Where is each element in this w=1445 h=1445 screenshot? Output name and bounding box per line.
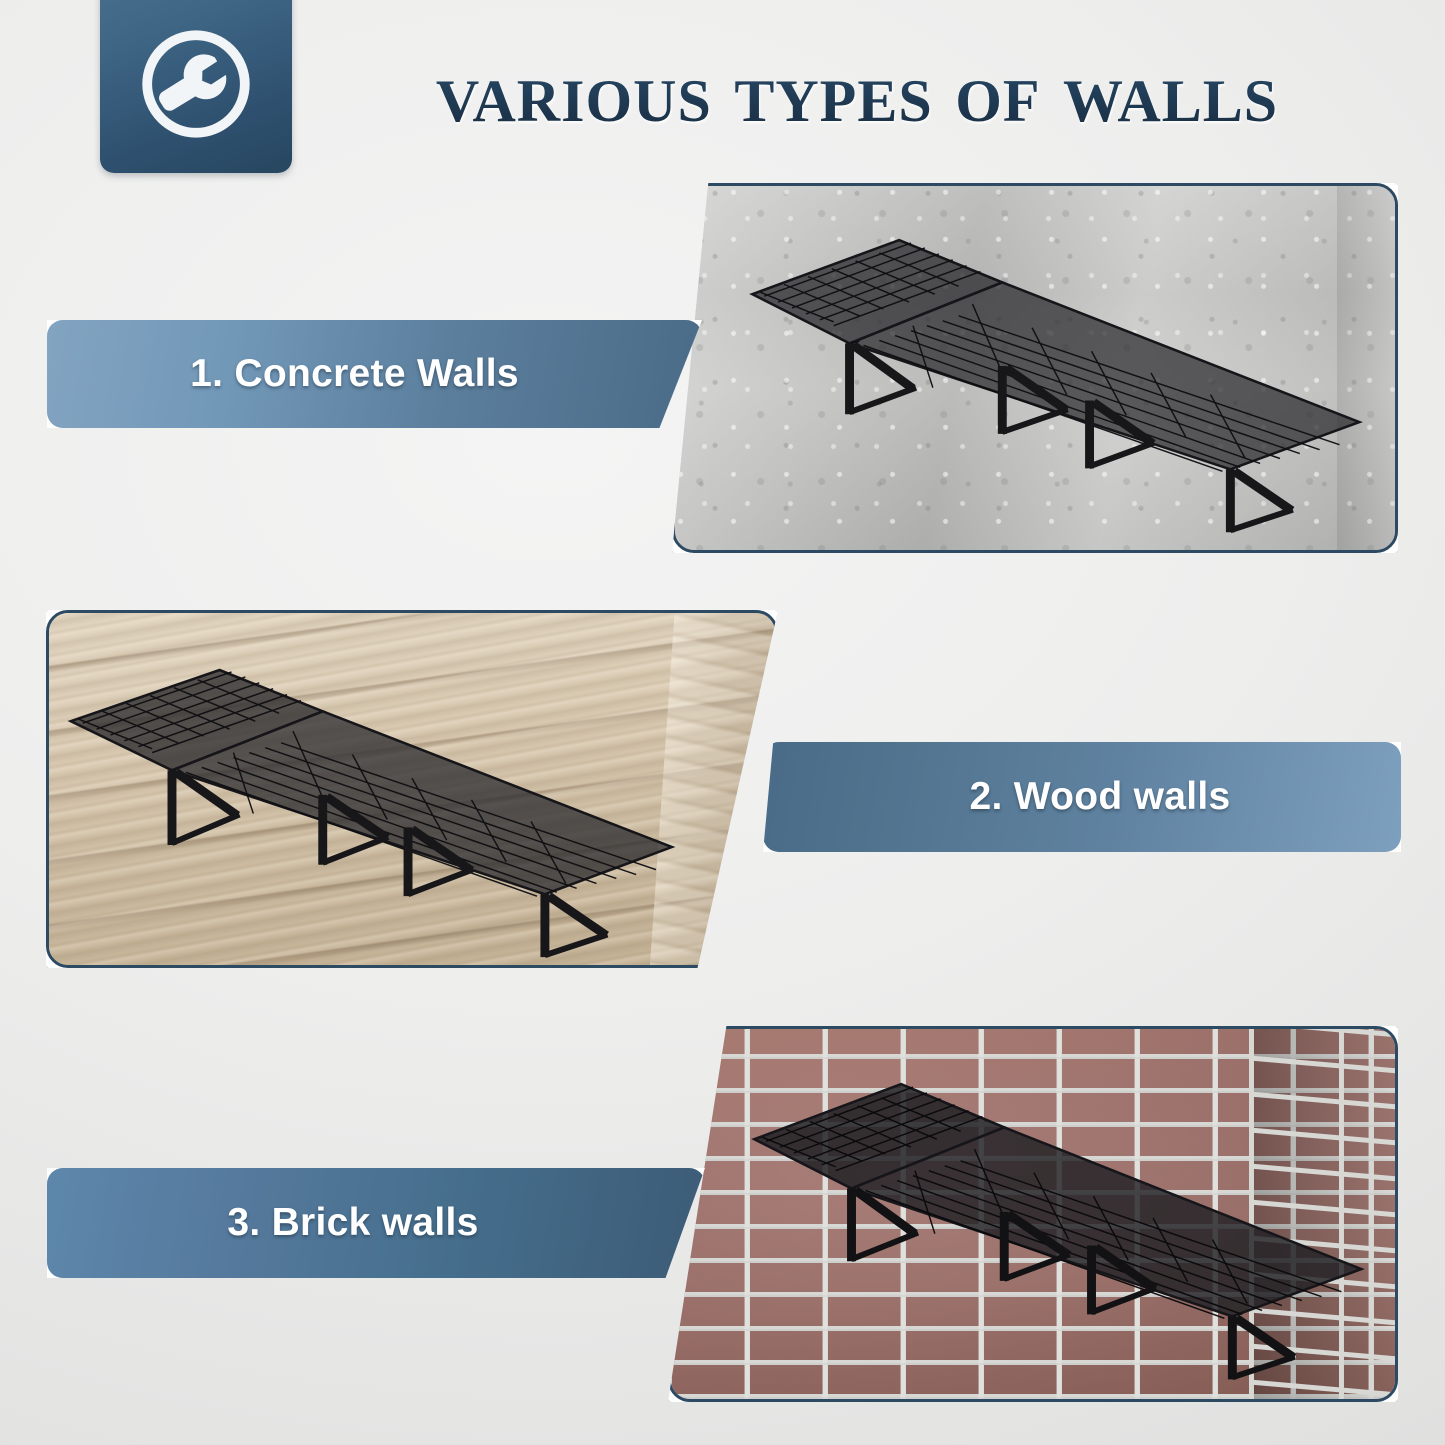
label-text-wood: 2. Wood walls: [763, 775, 1401, 819]
photo-panel-brick: [668, 1026, 1398, 1402]
label-banner-concrete[interactable]: 1. Concrete Walls: [47, 320, 702, 428]
header: Various Types of Walls: [0, 0, 1445, 185]
photo-panel-wood: [46, 610, 778, 968]
shelf-illustration-concrete: [675, 186, 1395, 550]
wrench-in-circle-icon: [135, 23, 257, 145]
shelf-illustration-brick: [671, 1029, 1395, 1399]
shelf-illustration-wood: [49, 613, 775, 965]
brand-badge: [100, 0, 292, 173]
page-title: Various Types of Walls: [322, 36, 1392, 146]
label-text-brick: 3. Brick walls: [47, 1201, 705, 1245]
photo-panel-concrete: [672, 183, 1398, 553]
label-banner-wood[interactable]: 2. Wood walls: [763, 742, 1401, 852]
label-text-concrete: 1. Concrete Walls: [47, 352, 702, 396]
infographic-page: Various Types of Walls: [0, 0, 1445, 1445]
label-banner-brick[interactable]: 3. Brick walls: [47, 1168, 705, 1278]
